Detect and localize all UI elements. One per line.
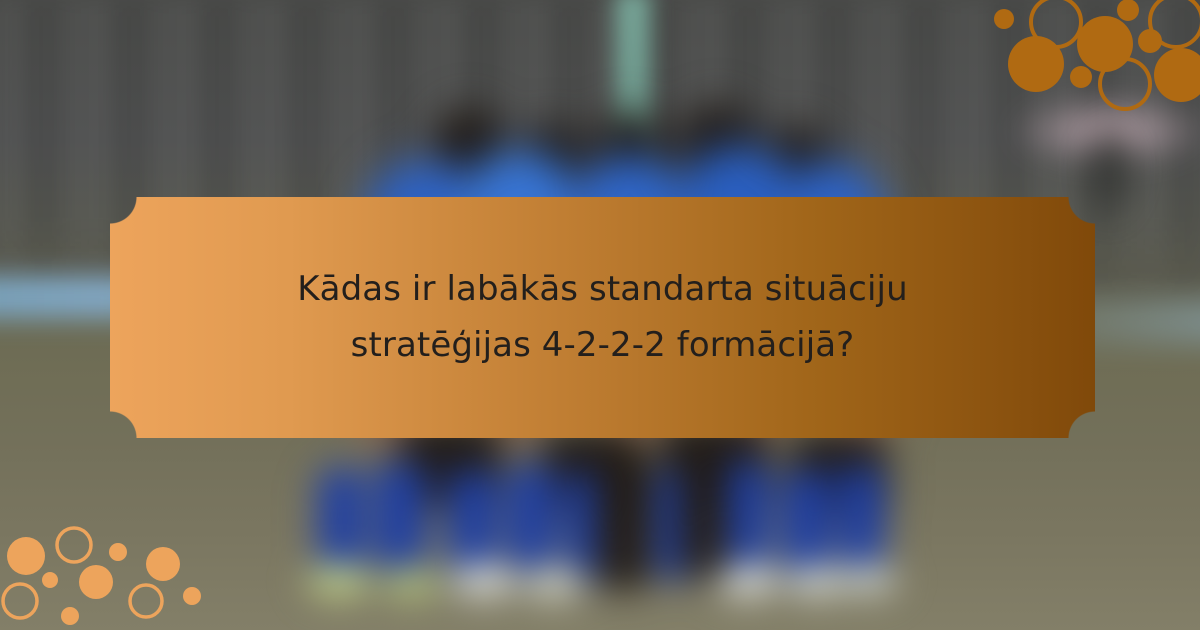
share-card-canvas: Kādas ir labākās standarta situāciju str… xyxy=(0,0,1200,630)
circle-cluster-bottom-left xyxy=(0,510,220,630)
headline-line-2: stratēģijas 4-2-2-2 formācijā? xyxy=(351,325,855,365)
headline-banner: Kādas ir labākās standarta situāciju str… xyxy=(110,197,1095,438)
headline-text: Kādas ir labākās standarta situāciju str… xyxy=(110,262,1095,372)
circle-cluster-top-right xyxy=(970,0,1200,120)
headline-line-1: Kādas ir labākās standarta situāciju xyxy=(297,269,907,309)
